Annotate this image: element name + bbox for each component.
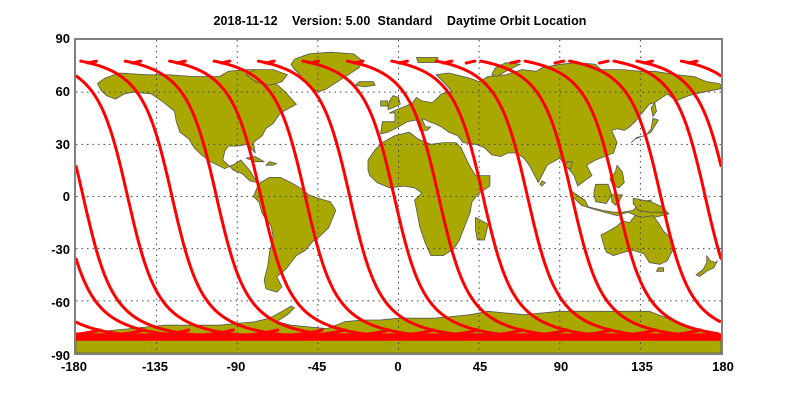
- y-tick-0: 0: [36, 190, 70, 203]
- x-tick-45: 45: [450, 360, 510, 373]
- y-tick-m30: -30: [36, 243, 70, 256]
- orbit-track: [221, 61, 230, 63]
- orbit-track: [443, 61, 452, 63]
- orbit-track: [511, 61, 520, 63]
- y-axis-labels: 90 60 30 0 -30 -60 -90: [26, 0, 70, 400]
- landmass-svalbard: [416, 57, 438, 62]
- orbit-track: [132, 61, 141, 63]
- x-tick-m180: -180: [44, 360, 104, 373]
- orbit-track: [688, 61, 697, 63]
- orbit-track: [644, 61, 653, 63]
- orbit-track: [555, 61, 564, 63]
- y-tick-m60: -60: [36, 296, 70, 309]
- x-tick-m45: -45: [287, 360, 347, 373]
- orbit-track: [600, 61, 609, 63]
- x-tick-180: 180: [693, 360, 753, 373]
- y-tick-60: 60: [36, 85, 70, 98]
- chart-title: 2018-11-12 Version: 5.00 Standard Daytim…: [0, 14, 800, 28]
- orbit-track: [466, 61, 475, 63]
- orbit-track: [177, 61, 186, 63]
- orbit-track: [354, 61, 363, 63]
- landmass-ireland: [381, 101, 388, 106]
- orbit-track: [310, 61, 319, 63]
- orbit-track: [399, 61, 408, 63]
- map-canvas: [76, 40, 721, 353]
- orbit-track: [88, 61, 97, 63]
- x-tick-135: 135: [612, 360, 672, 373]
- y-tick-30: 30: [36, 138, 70, 151]
- orbit-track: [266, 61, 275, 63]
- x-tick-90: 90: [531, 360, 591, 373]
- orbit-location-chart: 2018-11-12 Version: 5.00 Standard Daytim…: [0, 0, 800, 400]
- x-tick-m135: -135: [125, 360, 185, 373]
- x-tick-m90: -90: [206, 360, 266, 373]
- x-tick-0: 0: [368, 360, 428, 373]
- y-tick-90: 90: [36, 32, 70, 45]
- map-plot-area: [74, 38, 723, 355]
- x-axis-labels: -180 -135 -90 -45 0 45 90 135 180: [0, 360, 800, 380]
